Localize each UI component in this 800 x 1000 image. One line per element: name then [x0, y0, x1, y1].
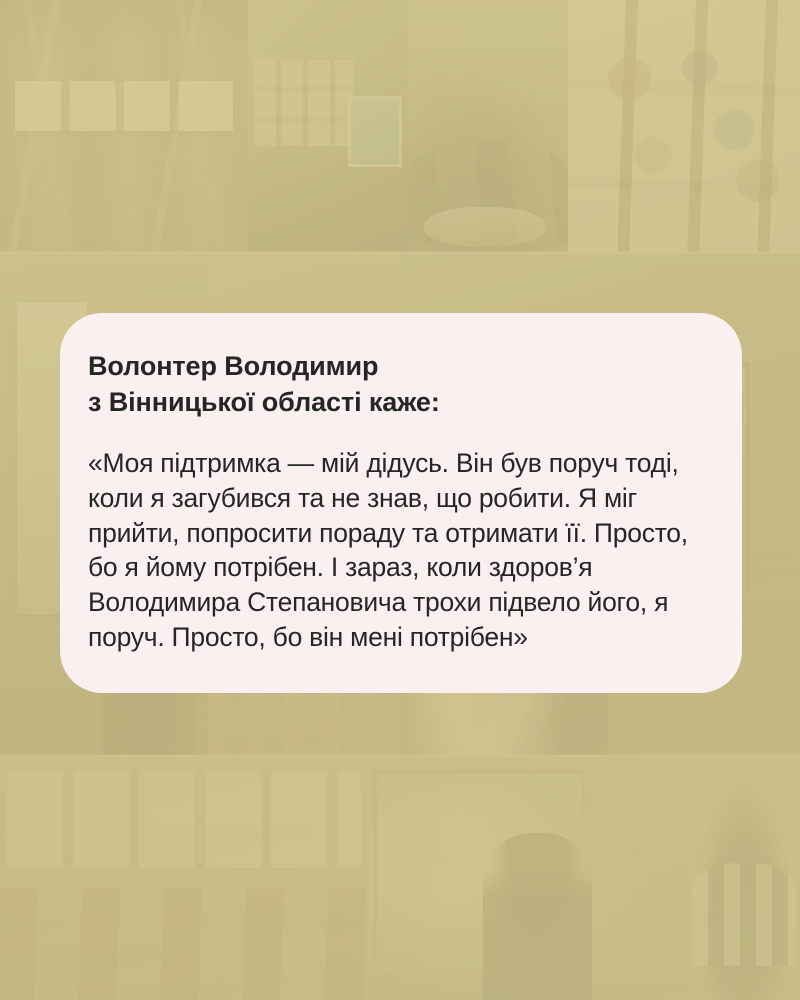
library-shelves-photo	[248, 0, 408, 252]
assembly-hall-photo	[0, 755, 368, 1000]
quote-card-inner: Волонтер Володимир з Вінницької області …	[88, 349, 702, 654]
exhibition-easels-photo	[0, 0, 248, 252]
projection-speaker-photo	[368, 755, 688, 1000]
collage-seam-upper	[0, 251, 800, 254]
collage-band-bottom	[0, 755, 800, 1000]
quote-attribution-heading: Волонтер Володимир з Вінницької області …	[88, 349, 702, 420]
poster-canvas: Волонтер Володимир з Вінницької області …	[0, 0, 800, 1000]
round-table-meeting-photo	[408, 0, 568, 252]
group-portrait-photo	[688, 755, 800, 1000]
poster-wall-photo	[568, 0, 800, 252]
collage-seam-lower	[0, 754, 800, 757]
quote-card: Волонтер Володимир з Вінницької області …	[60, 313, 742, 693]
quote-text: «Моя підтримка — мій дідусь. Він був пор…	[88, 446, 702, 654]
collage-band-top	[0, 0, 800, 252]
